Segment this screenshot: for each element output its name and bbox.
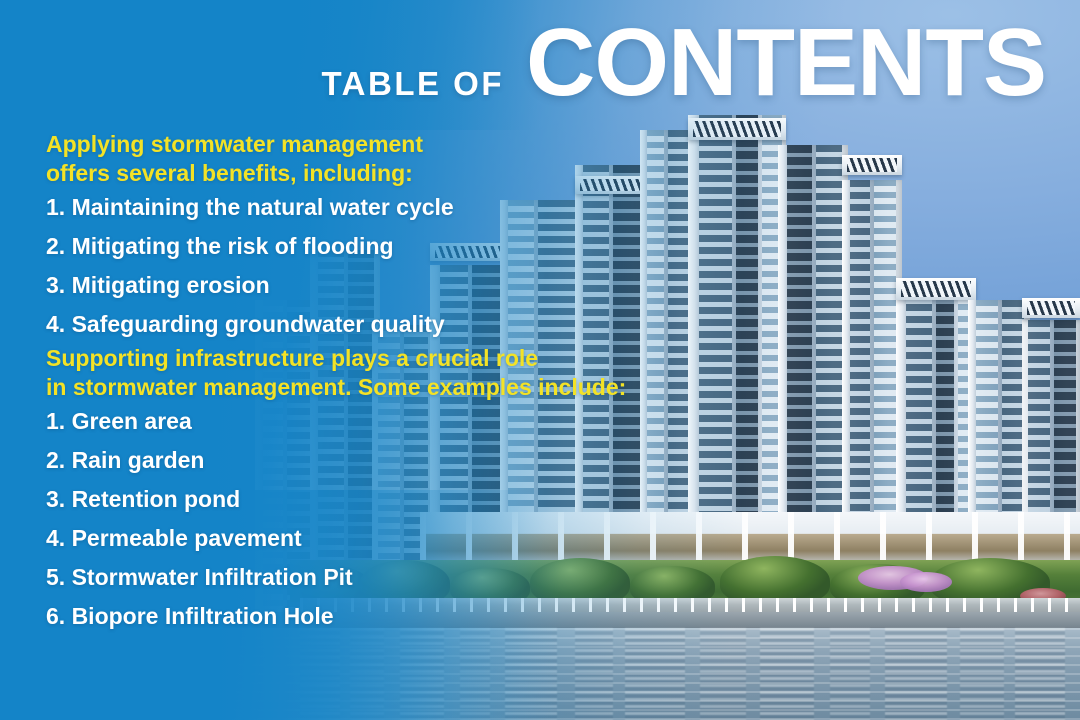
section-2-heading-line: Supporting infrastructure plays a crucia… [46,344,706,373]
list-item[interactable]: 3. Mitigating erosion [46,266,706,305]
page-title: TABLE OF CONTENTS [321,16,1046,110]
list-item[interactable]: 3. Retention pond [46,480,706,519]
title-main: CONTENTS [526,16,1046,110]
section-1-heading-line: Applying stormwater management [46,130,706,159]
list-item[interactable]: 5. Stormwater Infiltration Pit [46,558,706,597]
benefits-list: 1. Maintaining the natural water cycle 2… [46,188,706,344]
list-item[interactable]: 2. Rain garden [46,441,706,480]
list-item[interactable]: 4. Safeguarding groundwater quality [46,305,706,344]
section-1-heading-line: offers several benefits, including: [46,159,706,188]
section-1-heading: Applying stormwater management offers se… [46,130,706,188]
slide-canvas: TABLE OF CONTENTS Applying stormwater ma… [0,0,1080,720]
section-2-heading-line: in stormwater management. Some examples … [46,373,706,402]
infrastructure-list: 1. Green area 2. Rain garden 3. Retentio… [46,402,706,636]
list-item[interactable]: 4. Permeable pavement [46,519,706,558]
list-item[interactable]: 6. Biopore Infiltration Hole [46,597,706,636]
list-item[interactable]: 1. Maintaining the natural water cycle [46,188,706,227]
content-column: Applying stormwater management offers se… [46,130,706,636]
title-prefix: TABLE OF [321,65,504,103]
section-2-heading: Supporting infrastructure plays a crucia… [46,344,706,402]
list-item[interactable]: 2. Mitigating the risk of flooding [46,227,706,266]
list-item[interactable]: 1. Green area [46,402,706,441]
